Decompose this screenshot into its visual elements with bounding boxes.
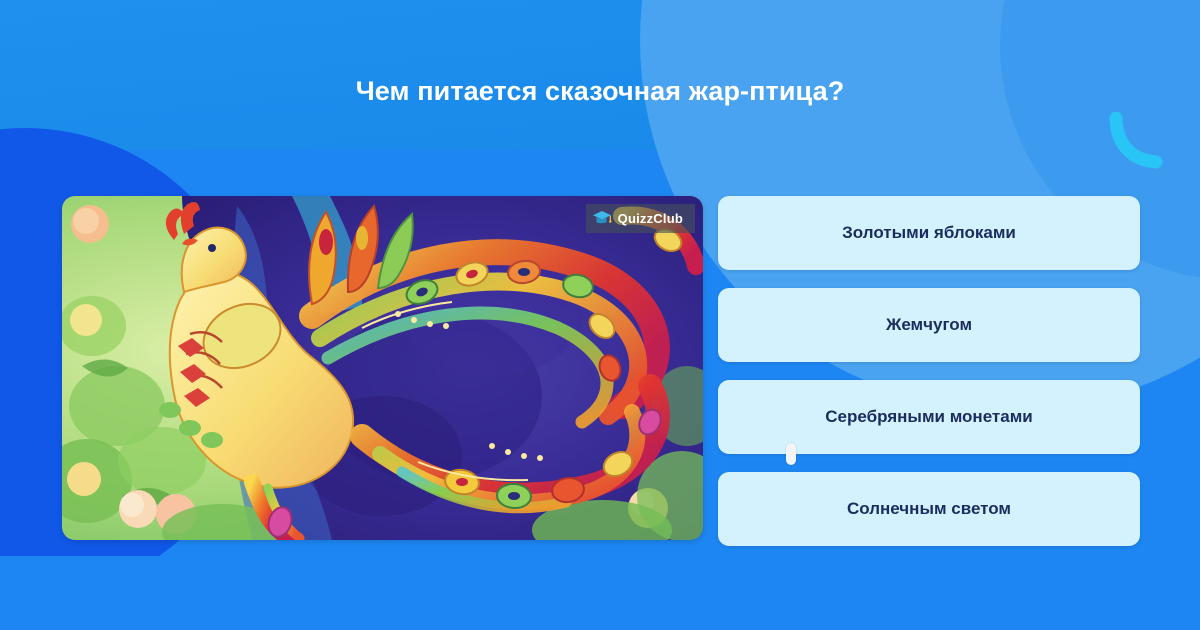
page-title: Чем питается сказочная жар-птица?: [0, 74, 1200, 108]
answer-option-1[interactable]: Золотыми яблоками: [718, 196, 1140, 270]
quizzclub-watermark: QuizzClub: [586, 204, 695, 233]
quiz-card: Чем питается сказочная жар-птица?: [0, 0, 1200, 630]
answer-label: Жемчугом: [886, 315, 972, 335]
answer-label: Золотыми яблоками: [842, 223, 1016, 243]
scroll-thumb-artifact[interactable]: [786, 443, 796, 465]
answer-option-2[interactable]: Жемчугом: [718, 288, 1140, 362]
answer-label: Солнечным светом: [847, 499, 1011, 519]
answer-option-3[interactable]: Серебряными монетами: [718, 380, 1140, 454]
answer-label: Серебряными монетами: [825, 407, 1033, 427]
graduation-cap-icon: [592, 210, 612, 227]
answer-list: Золотыми яблоками Жемчугом Серебряными м…: [718, 196, 1140, 546]
answer-option-4[interactable]: Солнечным светом: [718, 472, 1140, 546]
watermark-label: QuizzClub: [618, 211, 683, 226]
background-bottom-band: [0, 556, 1200, 630]
firebird-illustration: QuizzClub: [62, 196, 703, 540]
cyan-swoosh-icon: [1108, 112, 1180, 174]
